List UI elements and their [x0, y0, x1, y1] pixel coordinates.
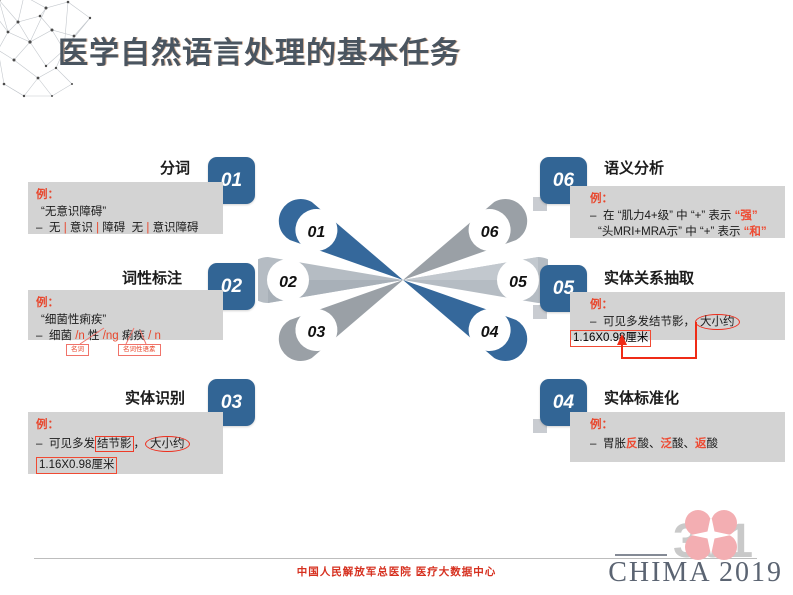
term-04-2-red: 返	[695, 438, 707, 450]
boxed-term-03: 结节影	[95, 436, 134, 452]
text-06-b: “头MRI+MRA示” 中 “+” 表示	[598, 226, 744, 238]
quote-01: “无意识障碍”	[36, 204, 215, 220]
panel-01: 例： “无意识障碍” –无 | 意识 | 障碍 无 | 意识障碍	[28, 182, 223, 234]
example-label-04: 例：	[590, 417, 777, 433]
result-04-line1: –胃胀反酸、泛酸、返酸	[590, 436, 777, 452]
term-04-2-black: 酸	[707, 438, 719, 450]
result-03-line2: 1.16X0.98厘米	[36, 457, 215, 474]
brand-text: CHIMA 2019	[608, 557, 783, 589]
term-04-sep-0: 、	[649, 438, 661, 450]
heading-01: 分词	[160, 157, 190, 178]
relation-arrow-05	[600, 318, 720, 370]
svg-text:03: 03	[307, 324, 325, 341]
svg-text:06: 06	[481, 224, 499, 241]
term-04-1-black: 酸	[672, 438, 684, 450]
term-04-0-black: 酸	[638, 438, 650, 450]
flower-icon	[685, 510, 737, 560]
result-06-line2: “头MRI+MRA示” 中 “+” 表示 “和”	[590, 224, 777, 240]
svg-text:05: 05	[509, 274, 528, 291]
slide-canvas: 医学自然语言处理的基本任务 02 05 01	[0, 0, 793, 595]
highlight-06-b: “和”	[744, 226, 767, 238]
heading-03: 实体识别	[125, 387, 185, 408]
svg-text:02: 02	[279, 274, 297, 291]
tag-label-02-0: 名词	[66, 344, 89, 356]
result-01: –无 | 意识 | 障碍 无 | 意识障碍	[36, 220, 215, 236]
panel-06: 例： –在 “肌力4+级” 中 “+” 表示 “强” “头MRI+MRA示” 中…	[570, 186, 785, 238]
heading-06: 语义分析	[604, 157, 664, 178]
tag-label-02-1: 名词性语素	[118, 344, 161, 356]
text-06-a: 在 “肌力4+级” 中 “+” 表示	[603, 210, 735, 222]
example-label-05: 例：	[590, 297, 777, 313]
term-04-1-red: 泛	[661, 438, 673, 450]
term-04-sep-1: 、	[684, 438, 696, 450]
panel-04: 例： –胃胀反酸、泛酸、返酸	[570, 412, 785, 462]
example-label-02: 例：	[36, 295, 215, 311]
heading-04: 实体标准化	[604, 387, 679, 408]
page-title: 医学自然语言处理的基本任务	[58, 28, 461, 72]
text-03-prefix: 可见多发	[49, 438, 95, 450]
term-04-0-red: 反	[626, 438, 638, 450]
text-04-plain: 胃胀	[603, 438, 626, 450]
heading-05: 实体关系抽取	[604, 267, 694, 288]
svg-text:01: 01	[307, 224, 325, 241]
example-label-03: 例：	[36, 417, 215, 433]
panel-03: 例： –可见多发结节影，大小约 1.16X0.98厘米	[28, 412, 223, 474]
heading-02: 词性标注	[122, 267, 182, 288]
result-06-line1: –在 “肌力4+级” 中 “+” 表示 “强”	[590, 208, 777, 224]
ellipse-term-03: 大小约	[145, 436, 190, 452]
highlight-06-a: “强”	[735, 210, 758, 222]
result-03-line1: –可见多发结节影，大小约	[36, 436, 215, 452]
svg-text:04: 04	[481, 324, 499, 341]
boxed-measure-03: 1.16X0.98厘米	[36, 457, 117, 474]
example-label-06: 例：	[590, 191, 777, 207]
pinwheel-diagram: 02 05 01 06 03 0	[258, 150, 548, 410]
example-label-01: 例：	[36, 187, 215, 203]
comma-03: ，	[134, 438, 146, 450]
